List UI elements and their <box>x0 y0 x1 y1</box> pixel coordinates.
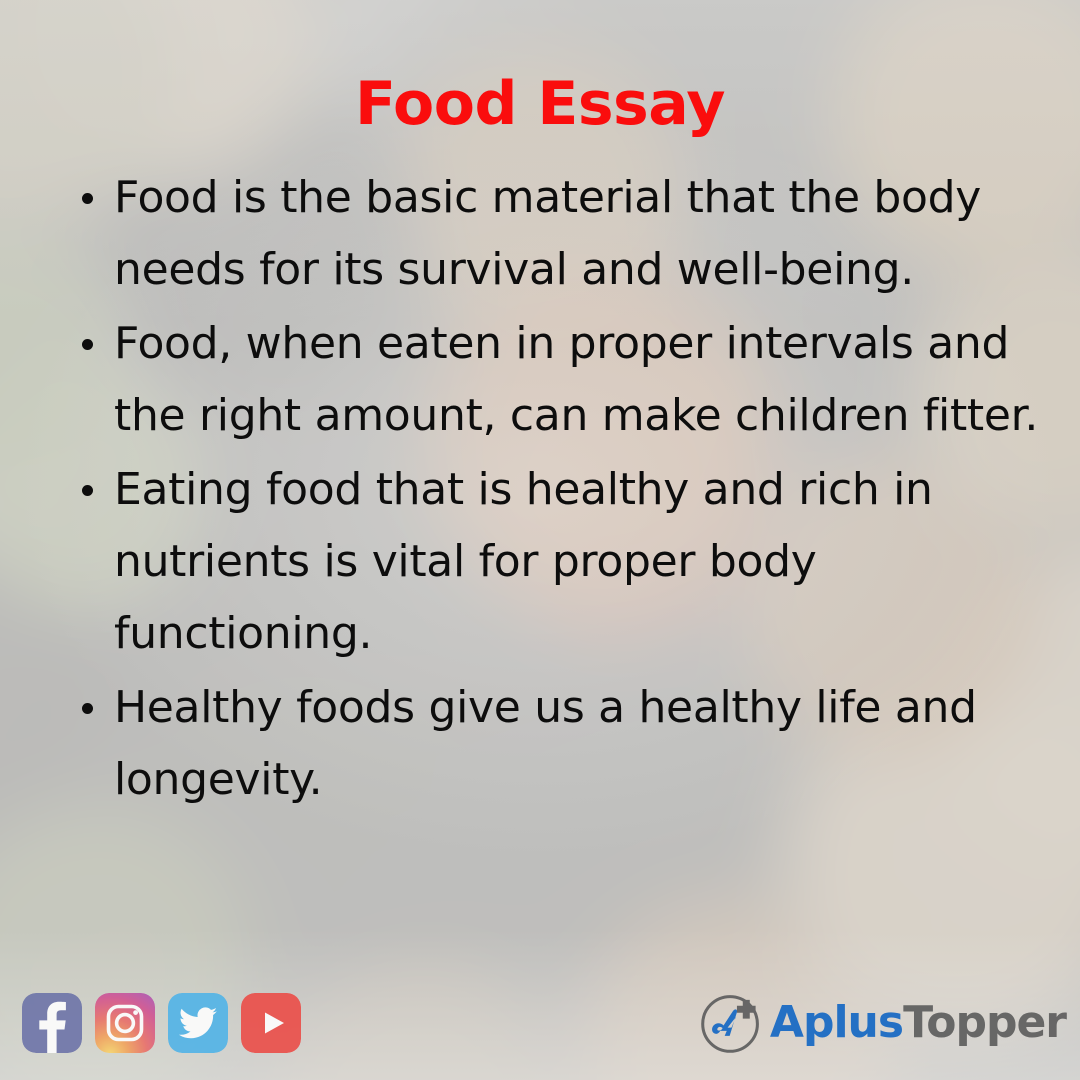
brand-text-primary: Aplus <box>770 997 903 1048</box>
youtube-icon[interactable] <box>241 993 301 1053</box>
instagram-icon[interactable] <box>95 993 155 1053</box>
bullet-dot-icon <box>82 339 93 350</box>
list-item: Eating food that is healthy and rich in … <box>72 454 1044 670</box>
bullet-dot-icon <box>82 485 93 496</box>
brand-wordmark: AplusTopper <box>770 1001 1066 1045</box>
page-title: Food Essay <box>0 74 1080 134</box>
facebook-icon[interactable] <box>22 993 82 1053</box>
aplustopper-logo[interactable]: AplusTopper <box>698 990 1066 1056</box>
social-links-bar <box>22 993 301 1053</box>
list-item-text: Food, when eaten in proper intervals and… <box>114 318 1038 441</box>
list-item-text: Healthy foods give us a healthy life and… <box>114 682 977 805</box>
list-item: Food is the basic material that the body… <box>72 162 1044 306</box>
twitter-icon[interactable] <box>168 993 228 1053</box>
list-item-text: Food is the basic material that the body… <box>114 172 981 295</box>
bullet-dot-icon <box>82 193 93 204</box>
poster-content: Food Essay Food is the basic material th… <box>0 0 1080 1080</box>
bullet-dot-icon <box>82 703 93 714</box>
brand-text-secondary: Topper <box>903 997 1066 1048</box>
list-item: Food, when eaten in proper intervals and… <box>72 308 1044 452</box>
food-essay-poster: Food Essay Food is the basic material th… <box>0 0 1080 1080</box>
list-item: Healthy foods give us a healthy life and… <box>72 672 1044 816</box>
a-plus-circle-icon <box>698 990 764 1056</box>
list-item-text: Eating food that is healthy and rich in … <box>114 464 933 659</box>
essay-points-list: Food is the basic material that the body… <box>72 162 1044 818</box>
